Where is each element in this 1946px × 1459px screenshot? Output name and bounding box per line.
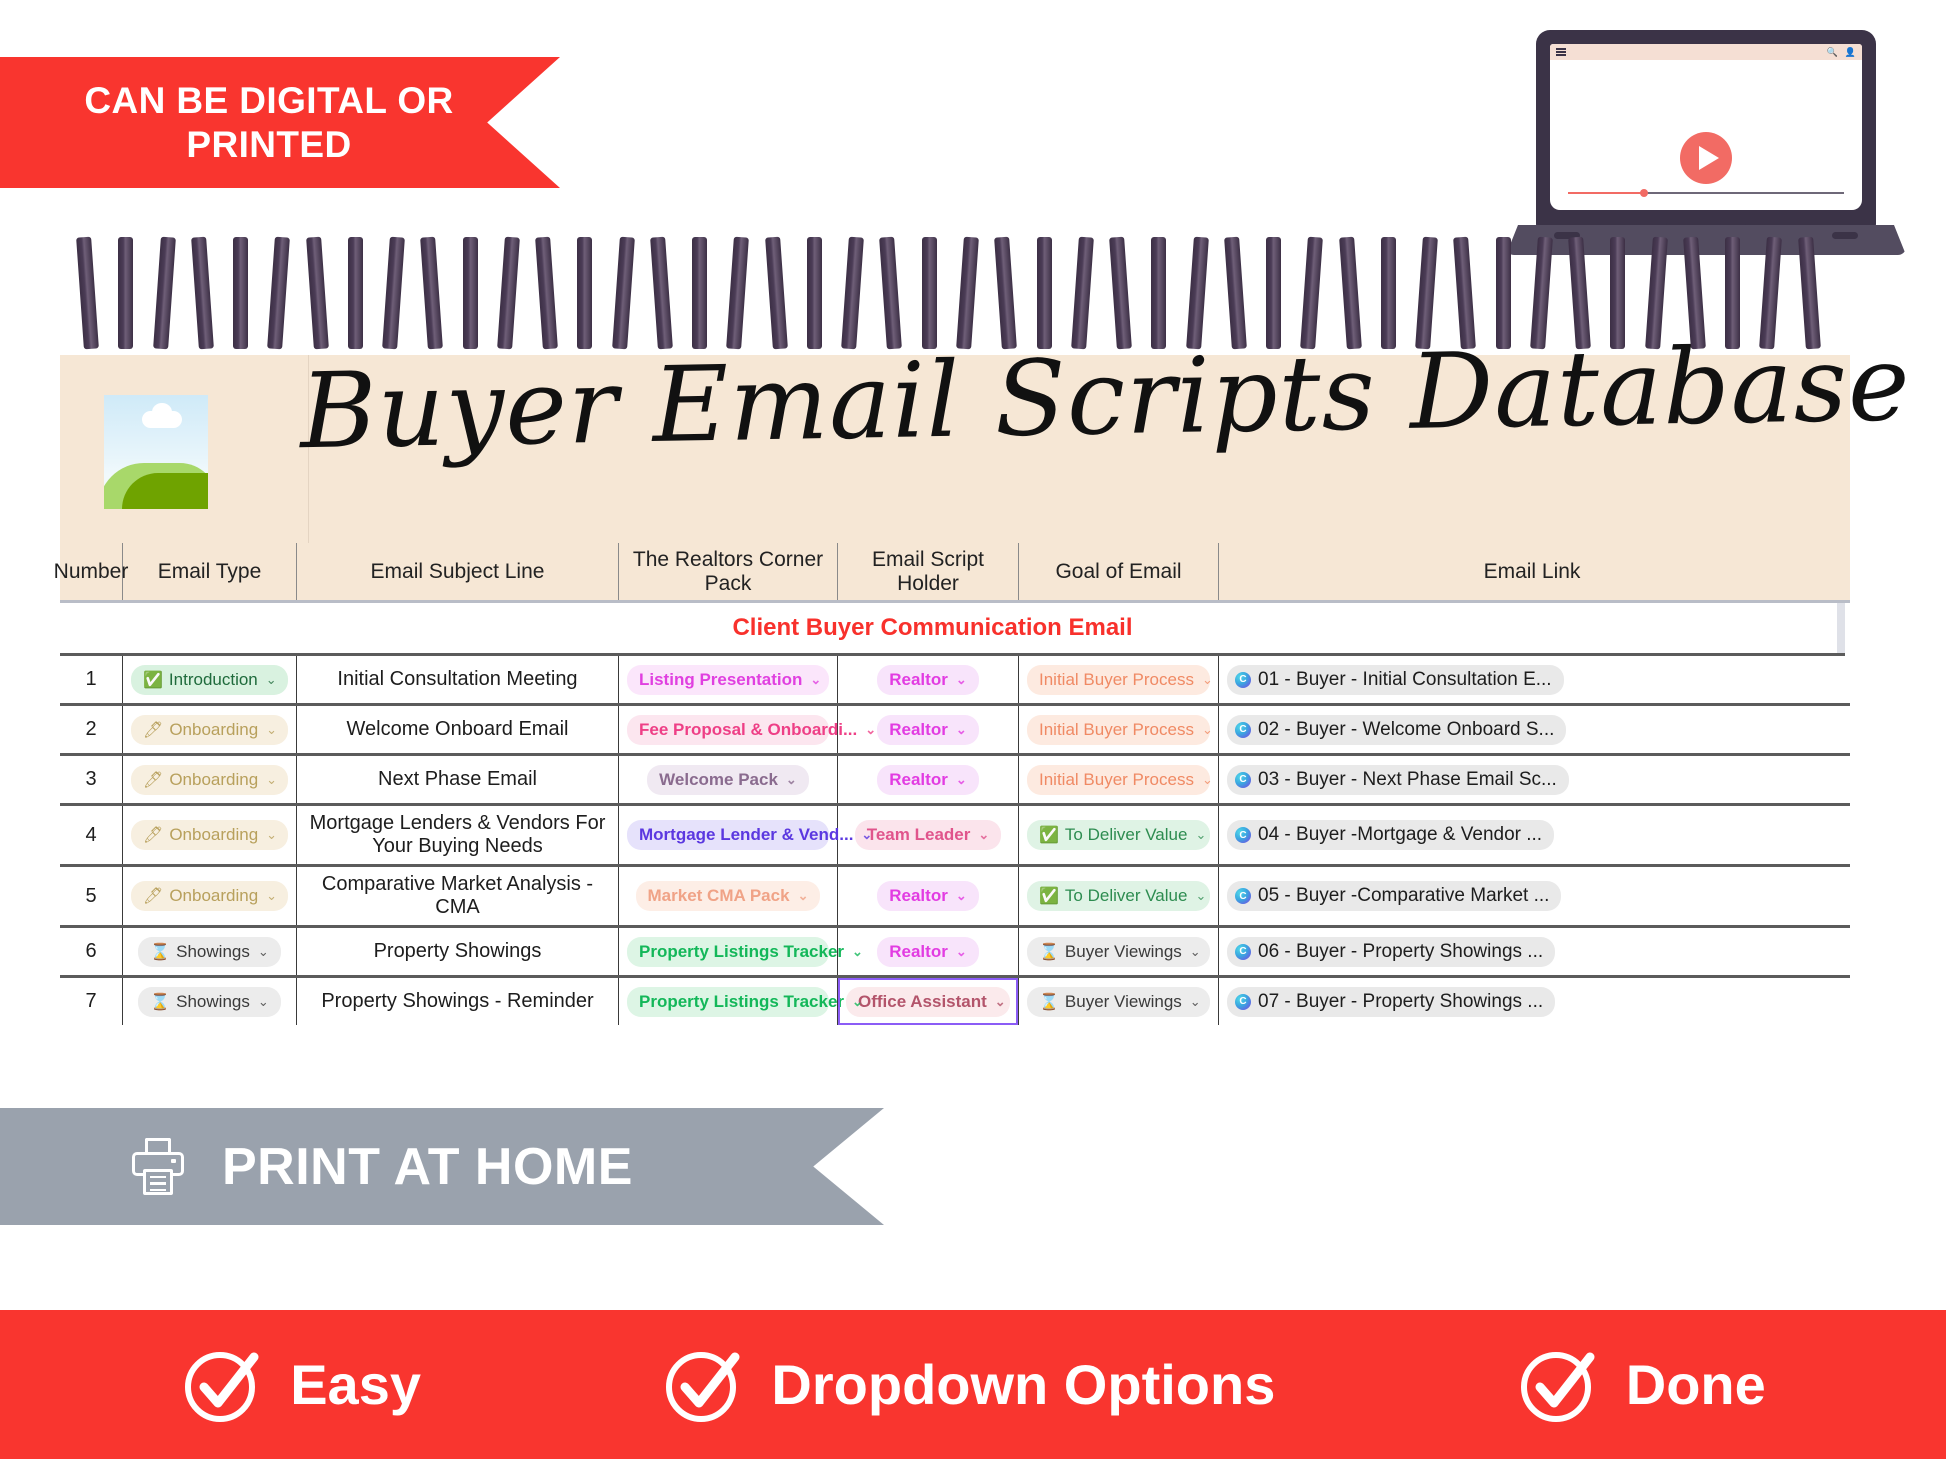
chevron-down-icon[interactable]: ⌄ <box>1190 944 1201 960</box>
cell-email-subject-line[interactable]: Property Showings - Reminder <box>297 978 619 1025</box>
chevron-down-icon[interactable]: ⌄ <box>266 827 277 843</box>
feature-label: Easy <box>290 1352 421 1417</box>
pill-label: Realtor <box>889 670 948 690</box>
spiral-ring <box>765 237 788 350</box>
landscape-photo-thumbnail <box>104 395 208 509</box>
cell-email-link[interactable]: C04 - Buyer -Mortgage & Vendor ... <box>1219 806 1845 864</box>
printer-icon <box>132 1138 184 1196</box>
hamburger-icon[interactable] <box>1556 48 1566 56</box>
spiral-ring <box>880 237 903 350</box>
cell-goal-of-email[interactable]: ✅To Deliver Value⌄ <box>1019 867 1219 925</box>
pill-label: Introduction <box>169 670 258 690</box>
check-circle-icon <box>180 1343 264 1427</box>
pill-emoji-icon: ⌛ <box>1039 992 1059 1012</box>
cell-email-subject-line[interactable]: Property Showings <box>297 928 619 975</box>
cell-email-link[interactable]: C02 - Buyer - Welcome Onboard S... <box>1219 706 1845 753</box>
laptop-foot-left <box>1554 232 1580 239</box>
pill-label: Office Assistant <box>858 992 987 1012</box>
pill-label: Realtor <box>889 770 948 790</box>
pill-label: Showings <box>176 942 250 962</box>
email-link-label: 05 - Buyer -Comparative Market ... <box>1258 885 1549 907</box>
chevron-down-icon[interactable]: ⌄ <box>1202 722 1213 738</box>
feature-item: Done <box>1516 1343 1766 1427</box>
chevron-down-icon[interactable]: ⌄ <box>786 772 797 788</box>
email-scripts-table: NumberEmail TypeEmail Subject LineThe Re… <box>60 543 1850 1025</box>
print-at-home-label: PRINT AT HOME <box>222 1137 633 1197</box>
cell-realtors-corner-pack[interactable]: Welcome Pack⌄ <box>619 756 838 803</box>
pill-label: Listing Presentation <box>639 670 802 690</box>
row-number: 3 <box>60 756 123 803</box>
pill-label: Property Listings Tracker <box>639 942 844 962</box>
pill-label: Onboarding <box>169 825 258 845</box>
vertical-scrollbar[interactable] <box>1837 603 1845 653</box>
feature-item: Dropdown Options <box>661 1343 1275 1427</box>
table-row[interactable]: 1✅Introduction⌄Initial Consultation Meet… <box>60 656 1850 706</box>
cell-email-type[interactable]: 🖊Onboarding⌄ <box>123 706 297 753</box>
search-icon[interactable]: 🔍 <box>1827 48 1838 57</box>
cell-realtors-corner-pack[interactable]: Mortgage Lender & Vend...⌄ <box>619 806 838 864</box>
cell-email-script-holder[interactable]: Realtor⌄ <box>838 756 1019 803</box>
table-header-row: NumberEmail TypeEmail Subject LineThe Re… <box>60 543 1850 603</box>
chevron-down-icon[interactable]: ⌄ <box>266 672 277 688</box>
spiral-ring <box>807 237 822 349</box>
email-link-label: 07 - Buyer - Property Showings ... <box>1258 991 1543 1013</box>
pill-label: Initial Buyer Process <box>1039 670 1194 690</box>
laptop-screen: 🔍 👤 <box>1550 44 1862 210</box>
chevron-down-icon[interactable]: ⌄ <box>995 994 1006 1010</box>
features-bar: EasyDropdown OptionsDone <box>0 1310 1946 1459</box>
spiral-ring <box>118 237 133 349</box>
table-section-row: Client Buyer Communication Email <box>60 603 1845 656</box>
spiral-ring <box>612 237 635 350</box>
column-header-the-realtors-corner-pack[interactable]: The Realtors Corner Pack <box>619 543 838 600</box>
cell-email-link[interactable]: C06 - Buyer - Property Showings ... <box>1219 928 1845 975</box>
row-number: 6 <box>60 928 123 975</box>
pill-label: To Deliver Value <box>1065 825 1188 845</box>
cell-email-subject-line[interactable]: Comparative Market Analysis - CMA <box>297 867 619 925</box>
cell-email-type[interactable]: 🖊Onboarding⌄ <box>123 756 297 803</box>
chevron-down-icon[interactable]: ⌄ <box>266 772 277 788</box>
pill-label: Showings <box>176 992 250 1012</box>
chevron-down-icon[interactable]: ⌄ <box>1202 772 1213 788</box>
cell-email-script-holder[interactable]: Realtor⌄ <box>838 928 1019 975</box>
column-header-email-script-holder[interactable]: Email Script Holder <box>838 543 1019 600</box>
row-number: 5 <box>60 867 123 925</box>
canva-icon: C <box>1235 772 1251 788</box>
chevron-down-icon[interactable]: ⌄ <box>956 672 967 688</box>
cell-email-link[interactable]: C07 - Buyer - Property Showings ... <box>1219 978 1845 1025</box>
cell-realtors-corner-pack[interactable]: Property Listings Tracker⌄ <box>619 928 838 975</box>
spiral-ring <box>1186 237 1209 350</box>
table-row[interactable]: 6⌛Showings⌄Property ShowingsProperty Lis… <box>60 928 1850 978</box>
pill-label: Market CMA Pack <box>648 886 790 906</box>
email-link-label: 04 - Buyer -Mortgage & Vendor ... <box>1258 824 1542 846</box>
cell-goal-of-email[interactable]: Initial Buyer Process⌄ <box>1019 756 1219 803</box>
pill-label: Onboarding <box>169 720 258 740</box>
scrubber-handle[interactable] <box>1640 189 1648 197</box>
cell-email-type[interactable]: 🖊Onboarding⌄ <box>123 806 297 864</box>
pill-label: Property Listings Tracker <box>639 992 844 1012</box>
chevron-down-icon[interactable]: ⌄ <box>956 888 967 904</box>
cell-goal-of-email[interactable]: Initial Buyer Process⌄ <box>1019 706 1219 753</box>
cell-realtors-corner-pack[interactable]: Listing Presentation⌄ <box>619 656 838 703</box>
cell-goal-of-email[interactable]: Initial Buyer Process⌄ <box>1019 656 1219 703</box>
pill-label: Onboarding <box>169 770 258 790</box>
table-row[interactable]: 5🖊Onboarding⌄Comparative Market Analysis… <box>60 867 1850 928</box>
chevron-down-icon[interactable]: ⌄ <box>1195 827 1206 843</box>
play-icon[interactable] <box>1680 132 1732 184</box>
column-header-email-subject-line[interactable]: Email Subject Line <box>297 543 619 600</box>
check-circle-icon <box>1516 1343 1600 1427</box>
laptop-foot-right <box>1832 232 1858 239</box>
spiral-ring <box>956 237 979 350</box>
cell-email-type[interactable]: ⌛Showings⌄ <box>123 928 297 975</box>
spiral-ring <box>650 237 673 350</box>
pill-label: Welcome Pack <box>659 770 778 790</box>
pill-emoji-icon: ⌛ <box>150 992 170 1012</box>
chevron-down-icon[interactable]: ⌄ <box>258 994 269 1010</box>
table-body: 1✅Introduction⌄Initial Consultation Meet… <box>60 656 1850 1025</box>
chevron-down-icon[interactable]: ⌄ <box>852 944 863 960</box>
digital-or-printed-label: CAN BE DIGITAL OR PRINTED <box>34 79 504 166</box>
spiral-ring <box>841 237 864 350</box>
feature-label: Dropdown Options <box>771 1352 1275 1417</box>
pill-label: Realtor <box>889 942 948 962</box>
cell-goal-of-email[interactable]: ⌛Buyer Viewings⌄ <box>1019 978 1219 1025</box>
canva-icon: C <box>1235 722 1251 738</box>
pill-emoji-icon: 🖊 <box>143 825 163 845</box>
cell-realtors-corner-pack[interactable]: Property Listings Tracker⌄ <box>619 978 838 1025</box>
pill-label: Initial Buyer Process <box>1039 770 1194 790</box>
pill-emoji-icon: 🖊 <box>143 720 163 740</box>
cell-email-type[interactable]: ✅Introduction⌄ <box>123 656 297 703</box>
pill-label: Fee Proposal & Onboardi... <box>639 720 857 740</box>
cell-goal-of-email[interactable]: ⌛Buyer Viewings⌄ <box>1019 928 1219 975</box>
row-number: 7 <box>60 978 123 1025</box>
chevron-down-icon[interactable]: ⌄ <box>810 672 821 688</box>
laptop-lid: 🔍 👤 <box>1536 30 1876 230</box>
pill-label: To Deliver Value <box>1065 886 1188 906</box>
pill-emoji-icon: 🖊 <box>143 770 163 790</box>
pill-emoji-icon: ✅ <box>143 670 163 690</box>
chevron-down-icon[interactable]: ⌄ <box>1195 888 1206 904</box>
canva-icon: C <box>1235 944 1251 960</box>
pill-label: Mortgage Lender & Vend... <box>639 825 853 845</box>
chevron-down-icon[interactable]: ⌄ <box>852 994 863 1010</box>
row-number: 4 <box>60 806 123 864</box>
canva-icon: C <box>1235 994 1251 1010</box>
email-link-label: 03 - Buyer - Next Phase Email Sc... <box>1258 769 1557 791</box>
digital-or-printed-ribbon: CAN BE DIGITAL OR PRINTED <box>0 57 560 188</box>
spiral-ring <box>994 237 1017 350</box>
pill-label: Buyer Viewings <box>1065 942 1182 962</box>
chevron-down-icon[interactable]: ⌄ <box>956 722 967 738</box>
spiral-ring <box>233 237 248 349</box>
pill-emoji-icon: ✅ <box>1039 886 1059 906</box>
cell-email-link[interactable]: C03 - Buyer - Next Phase Email Sc... <box>1219 756 1845 803</box>
chevron-down-icon[interactable]: ⌄ <box>865 722 876 738</box>
print-at-home-ribbon: PRINT AT HOME <box>0 1108 884 1225</box>
cell-realtors-corner-pack[interactable]: Fee Proposal & Onboardi...⌄ <box>619 706 838 753</box>
pill-label: Team Leader <box>867 825 971 845</box>
spiral-ring <box>692 237 707 349</box>
canva-icon: C <box>1235 672 1251 688</box>
chevron-down-icon[interactable]: ⌄ <box>978 827 989 843</box>
cell-email-subject-line[interactable]: Initial Consultation Meeting <box>297 656 619 703</box>
chevron-down-icon[interactable]: ⌄ <box>798 888 809 904</box>
page-title: Buyer Email Scripts Database <box>299 326 1701 472</box>
row-number: 2 <box>60 706 123 753</box>
canva-icon: C <box>1235 888 1251 904</box>
feature-item: Easy <box>180 1343 421 1427</box>
cell-email-link[interactable]: C05 - Buyer -Comparative Market ... <box>1219 867 1845 925</box>
chevron-down-icon[interactable]: ⌄ <box>258 944 269 960</box>
spiral-ring <box>1109 237 1132 350</box>
cell-email-link[interactable]: C01 - Buyer - Initial Consultation E... <box>1219 656 1845 703</box>
print-at-home-watermark: PRINT AT HOME <box>270 268 600 311</box>
email-link-label: 06 - Buyer - Property Showings ... <box>1258 941 1543 963</box>
feature-label: Done <box>1626 1352 1766 1417</box>
email-link-label: 01 - Buyer - Initial Consultation E... <box>1258 669 1552 691</box>
table-row[interactable]: 3🖊Onboarding⌄Next Phase EmailWelcome Pac… <box>60 756 1850 806</box>
chevron-down-icon[interactable]: ⌄ <box>956 772 967 788</box>
spiral-ring <box>727 237 750 350</box>
cell-email-script-holder[interactable]: Realtor⌄ <box>838 656 1019 703</box>
chevron-down-icon[interactable]: ⌄ <box>956 944 967 960</box>
pill-label: Realtor <box>889 720 948 740</box>
account-icon[interactable]: 👤 <box>1845 48 1856 57</box>
table-row[interactable]: 7⌛Showings⌄Property Showings - ReminderP… <box>60 978 1850 1025</box>
spiral-ring <box>1151 237 1166 349</box>
column-header-goal-of-email[interactable]: Goal of Email <box>1019 543 1219 600</box>
table-row[interactable]: 4🖊Onboarding⌄Mortgage Lenders & Vendors … <box>60 806 1850 867</box>
cell-goal-of-email[interactable]: ✅To Deliver Value⌄ <box>1019 806 1219 864</box>
spiral-ring <box>922 237 937 349</box>
chevron-down-icon[interactable]: ⌄ <box>266 722 277 738</box>
column-header-email-link[interactable]: Email Link <box>1219 543 1845 600</box>
pill-emoji-icon: ⌛ <box>150 942 170 962</box>
pill-label: Buyer Viewings <box>1065 992 1182 1012</box>
section-label: Client Buyer Communication Email <box>732 614 1132 642</box>
spiral-ring <box>153 237 176 350</box>
spiral-ring <box>191 237 214 350</box>
cell-realtors-corner-pack[interactable]: Market CMA Pack⌄ <box>619 867 838 925</box>
spiral-ring <box>76 237 99 350</box>
pill-emoji-icon: ✅ <box>1039 825 1059 845</box>
chevron-down-icon[interactable]: ⌄ <box>861 827 872 843</box>
cell-email-type[interactable]: 🖊Onboarding⌄ <box>123 867 297 925</box>
listing-graphic: CAN BE DIGITAL OR PRINTED 🔍 👤 <box>0 0 1946 1459</box>
video-progress-scrubber[interactable] <box>1568 192 1844 194</box>
cell-email-script-holder[interactable]: Office Assistant⌄ <box>838 978 1019 1025</box>
laptop-illustration: 🔍 👤 <box>1506 30 1906 275</box>
spiral-ring <box>1037 237 1052 349</box>
cell-email-subject-line[interactable]: Mortgage Lenders & Vendors For Your Buyi… <box>297 806 619 864</box>
spiral-ring <box>1071 237 1094 350</box>
laptop-base <box>1506 225 1906 255</box>
email-link-label: 02 - Buyer - Welcome Onboard S... <box>1258 719 1554 741</box>
cell-email-script-holder[interactable]: Realtor⌄ <box>838 867 1019 925</box>
pill-emoji-icon: 🖊 <box>143 886 163 906</box>
chevron-down-icon[interactable]: ⌄ <box>266 888 277 904</box>
table-row[interactable]: 2🖊Onboarding⌄Welcome Onboard EmailFee Pr… <box>60 706 1850 756</box>
column-header-email-type[interactable]: Email Type <box>123 543 297 600</box>
pill-label: Onboarding <box>169 886 258 906</box>
cell-email-subject-line[interactable]: Welcome Onboard Email <box>297 706 619 753</box>
cell-email-type[interactable]: ⌛Showings⌄ <box>123 978 297 1025</box>
video-top-bar: 🔍 👤 <box>1550 44 1862 60</box>
pill-label: Initial Buyer Process <box>1039 720 1194 740</box>
row-number: 1 <box>60 656 123 703</box>
chevron-down-icon[interactable]: ⌄ <box>1202 672 1213 688</box>
chevron-down-icon[interactable]: ⌄ <box>1190 994 1201 1010</box>
pill-emoji-icon: ⌛ <box>1039 942 1059 962</box>
column-header-number[interactable]: Number <box>60 543 123 600</box>
pill-label: Realtor <box>889 886 948 906</box>
cell-email-subject-line[interactable]: Next Phase Email <box>297 756 619 803</box>
check-circle-icon <box>661 1343 745 1427</box>
spiral-ring <box>1224 237 1247 350</box>
canva-icon: C <box>1235 827 1251 843</box>
